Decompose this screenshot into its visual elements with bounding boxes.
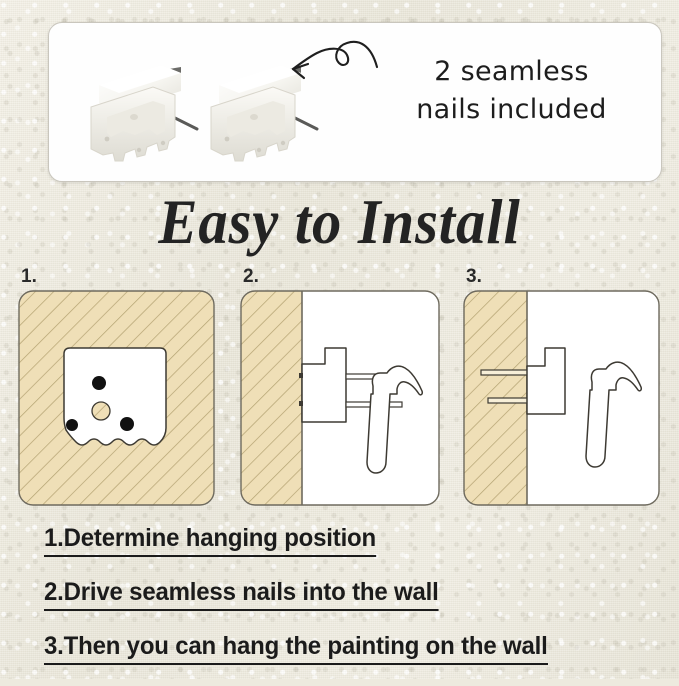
nail-hole-top — [92, 376, 106, 390]
step-panel-3: 3. — [463, 290, 660, 506]
step-panel-1: 1. — [18, 290, 215, 506]
step-illustration-3 — [463, 290, 660, 506]
step-illustration-2 — [240, 290, 440, 506]
curved-arrow-icon — [271, 33, 381, 95]
instruction-text-1: 1.Determine hanging position — [44, 524, 376, 557]
step-panel-2: 2. — [240, 290, 440, 506]
instruction-item-1: 1.Determine hanging position — [44, 524, 620, 553]
step-number-3: 3. — [466, 266, 482, 288]
instruction-item-3: 3.Then you can hang the painting on the … — [44, 632, 620, 661]
instruction-text-2: 2.Drive seamless nails into the wall — [44, 578, 439, 611]
instruction-list: 1.Determine hanging position 2.Drive sea… — [44, 524, 644, 686]
card-caption-line-1: 2 seamless — [379, 53, 644, 91]
nail-clip-image-1 — [77, 55, 207, 165]
card-caption-line-2: nails included — [379, 91, 644, 129]
nail-hole-right — [120, 417, 134, 431]
page-title: Easy to Install — [24, 186, 655, 259]
step-number-1: 1. — [21, 266, 37, 288]
step-panels: 1. — [0, 268, 679, 513]
step-number-2: 2. — [243, 266, 259, 288]
instruction-item-2: 2.Drive seamless nails into the wall — [44, 578, 620, 607]
seamless-nails-card: 2 seamless nails included — [48, 22, 662, 182]
instruction-text-3: 3.Then you can hang the painting on the … — [44, 632, 548, 665]
nail-hole-left — [66, 419, 78, 431]
step-illustration-1 — [18, 290, 215, 506]
card-caption: 2 seamless nails included — [379, 53, 644, 130]
